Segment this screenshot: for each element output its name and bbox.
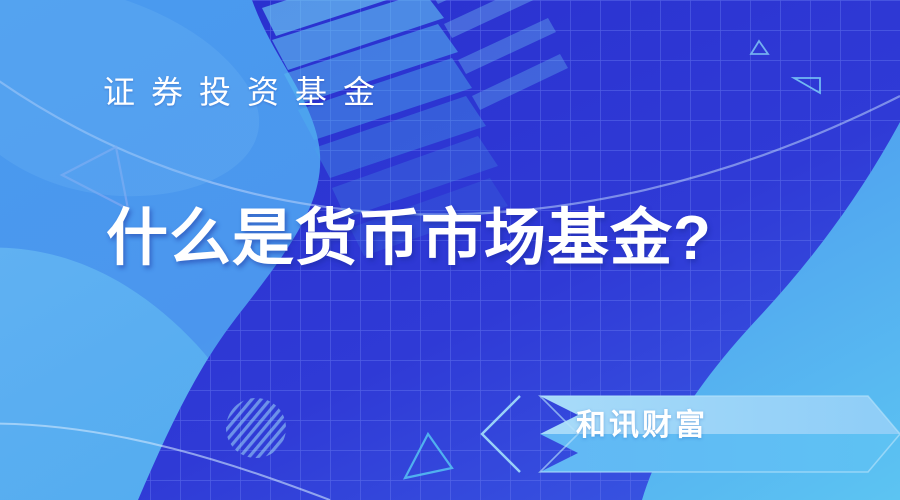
page-title: 什么是货币市场基金? <box>106 208 712 270</box>
brand-label: 和讯财富 <box>576 411 708 441</box>
subtitle: 证券投资基金 <box>103 76 391 108</box>
promo-banner: 证券投资基金 什么是货币市场基金? 和讯财富 <box>0 0 900 500</box>
